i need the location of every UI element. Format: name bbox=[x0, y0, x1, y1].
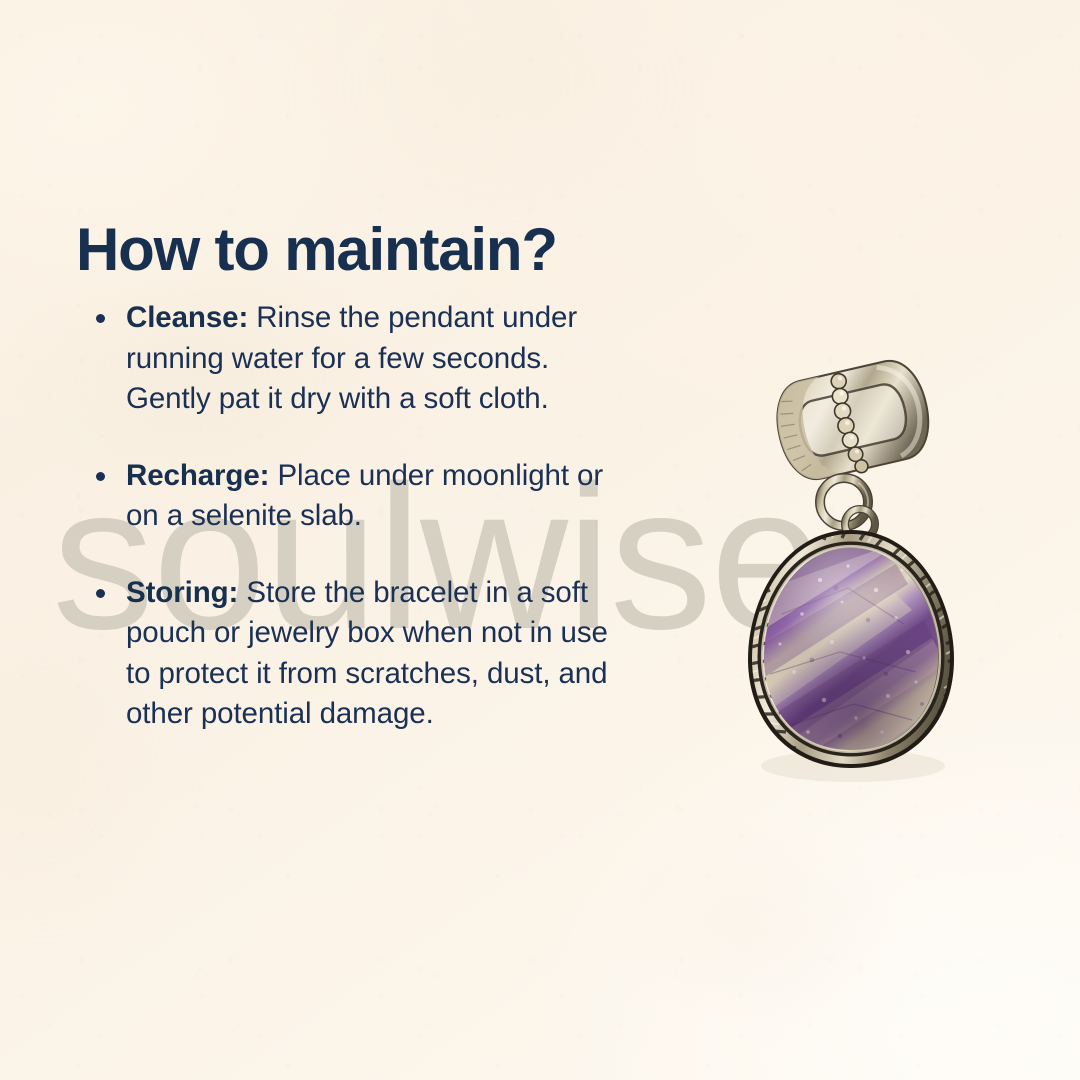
bullet-dot-icon bbox=[96, 472, 105, 481]
pendant-bail bbox=[768, 354, 937, 539]
poster-canvas: soulwise How to maintain? Cleanse: Rinse… bbox=[0, 0, 1080, 1080]
list-item: Storing: Store the bracelet in a soft po… bbox=[88, 573, 608, 735]
list-item: Cleanse: Rinse the pendant under running… bbox=[88, 298, 608, 420]
bullet-dot-icon bbox=[96, 314, 105, 323]
list-item-label: Cleanse: bbox=[126, 301, 248, 334]
pendant-stone-assembly bbox=[736, 522, 966, 780]
list-item-label: Storing: bbox=[126, 576, 238, 609]
list-item: Recharge: Place under moonlight or on a … bbox=[88, 456, 608, 537]
bullet-dot-icon bbox=[96, 589, 105, 598]
page-title: How to maintain? bbox=[76, 218, 557, 281]
list-item-label: Recharge: bbox=[126, 459, 269, 492]
maintenance-list: Cleanse: Rinse the pendant under running… bbox=[88, 298, 608, 735]
amethyst-pendant-image bbox=[736, 352, 966, 782]
